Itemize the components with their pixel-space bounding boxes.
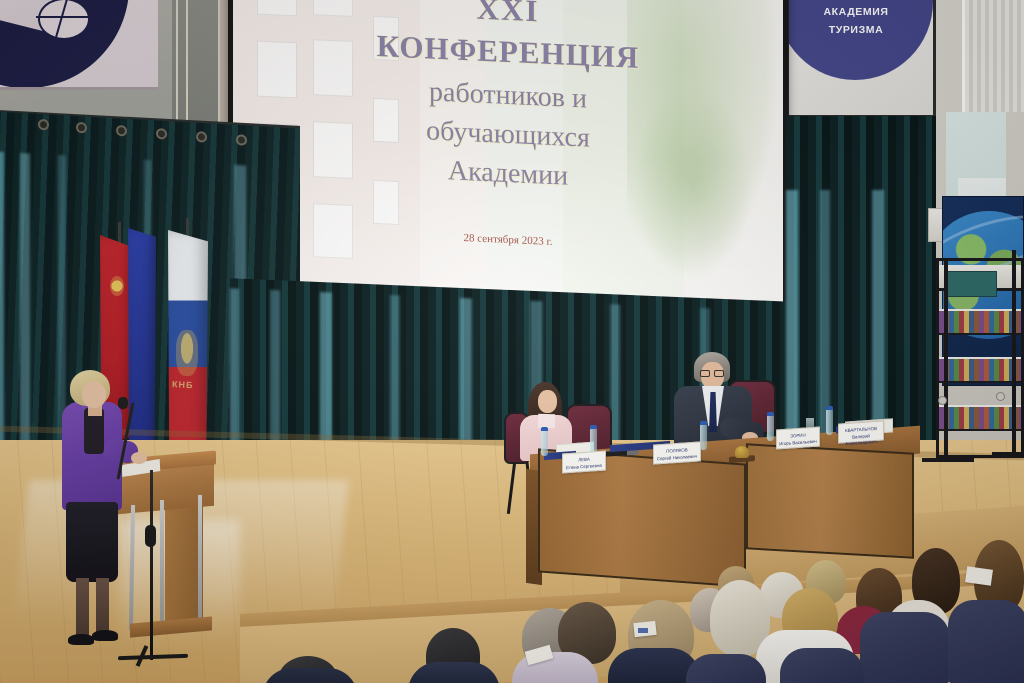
- banner-right: МЕЖДУНАРОДНАЯ АКАДЕМИЯ ТУРИЗМА: [786, 0, 936, 118]
- grommet-icon: [38, 119, 49, 131]
- books-row: [939, 359, 1021, 381]
- mat-banner-text: МЕЖДУНАРОДНАЯ АКАДЕМИЯ ТУРИЗМА: [786, 0, 933, 36]
- emblem-equator-line: [36, 16, 92, 18]
- screen-surface: XXI КОНФЕРЕНЦИЯ работников и обучающихся…: [233, 0, 783, 314]
- grommet-icon: [196, 131, 207, 143]
- eyeglasses-icon: [700, 370, 710, 377]
- speaker-hand: [131, 452, 147, 464]
- name-placard: ЗОРИН Игорь Васильевич: [776, 426, 820, 449]
- name-tag: [638, 628, 648, 633]
- water-bottle: [700, 424, 707, 450]
- flag-red-emblem-icon: [110, 276, 124, 296]
- curtain-right-window-glow: [786, 190, 936, 440]
- microphone-clamp: [145, 525, 156, 547]
- grommet-icon: [156, 128, 167, 140]
- water-bottle: [541, 430, 548, 456]
- book-shelf: [939, 309, 1021, 335]
- grommet-icon: [76, 122, 87, 134]
- auditorium-seat: [780, 648, 864, 683]
- stand-pole: [1012, 250, 1016, 454]
- water-bottle: [826, 409, 833, 435]
- flag-label: КНБ: [172, 379, 204, 391]
- shelf-sign: [947, 271, 997, 297]
- speaker-leg: [96, 578, 109, 636]
- book-shelf: [939, 357, 1021, 383]
- stand-pole: [944, 258, 948, 462]
- speaker-face: [82, 382, 106, 408]
- desk-bell-icon: [735, 446, 749, 458]
- speaker-leg: [76, 578, 89, 640]
- water-bottle: [767, 415, 774, 441]
- book-shelf: [939, 405, 1021, 431]
- note-paper: [965, 566, 993, 585]
- name-placard: КВАРТАЛЬНОВ Валерий Александрович: [838, 420, 884, 443]
- placard-line-2: Сергей Николаевич: [657, 453, 697, 461]
- speaker-shoe: [92, 630, 118, 641]
- speaker-skirt: [66, 502, 118, 582]
- book-shelf: [939, 265, 1021, 291]
- cart-wheel-icon: [996, 392, 1005, 401]
- bottle-cap: [767, 412, 774, 416]
- stand-foot: [922, 458, 974, 462]
- auditorium-seat: [860, 612, 950, 683]
- eyeglasses-icon: [714, 370, 724, 377]
- bottle-cap: [826, 406, 833, 410]
- banner-left: [0, 0, 158, 90]
- placard-line-1: ЛЕВА: [578, 457, 590, 463]
- window-blinds: [962, 0, 1024, 112]
- microphone-icon: [118, 397, 128, 409]
- stand-foot: [992, 452, 1024, 456]
- cart-wheel-icon: [938, 396, 947, 405]
- auditorium-seat: [948, 600, 1024, 683]
- bottle-cap: [590, 425, 597, 429]
- water-bottle: [590, 428, 597, 454]
- placard-line-2: Игорь Васильевич: [779, 438, 816, 446]
- books-row: [939, 311, 1021, 333]
- grommet-icon: [236, 134, 247, 146]
- slide-title-block: XXI КОНФЕРЕНЦИЯ работников и обучающихся…: [233, 0, 783, 202]
- placard-line-1: ПОЛЯКОВ: [666, 447, 687, 453]
- bottle-cap: [700, 421, 707, 425]
- name-placard: ПОЛЯКОВ Сергей Николаевич: [653, 441, 701, 464]
- microphone-stand: [150, 470, 153, 660]
- conference-hall-photo: МЕЖДУНАРОДНАЯ АКАДЕМИЯ ТУРИЗМА X: [0, 0, 1024, 683]
- bottle-cap: [541, 427, 548, 431]
- podium-leg: [160, 500, 164, 628]
- placard-line-2: Валерий Александрович: [845, 433, 876, 446]
- speaker-shoe: [68, 634, 94, 645]
- audience-shoulders: [512, 652, 598, 683]
- flag-blue: [128, 228, 156, 450]
- podium-leg: [198, 495, 202, 625]
- presidium-table-front-right: [746, 443, 914, 558]
- mat-line-2: АКАДЕМИЯ: [786, 6, 933, 18]
- presidium-member-left-face: [538, 390, 557, 413]
- flag-coat-of-arms-icon: [176, 330, 198, 376]
- book-display-stand: [936, 258, 1024, 458]
- mat-line-3: ТУРИЗМА: [786, 24, 933, 36]
- placard-line-1: ЗОРИН: [790, 432, 805, 438]
- name-placard: ЛЕВА Елена Сергеевна: [562, 450, 606, 473]
- placard-line-2: Елена Сергеевна: [566, 462, 602, 469]
- books-row: [939, 407, 1021, 429]
- grommet-icon: [116, 125, 127, 137]
- auditorium-seat: [686, 654, 766, 683]
- placard-line-1: КВАРТАЛЬНОВ: [845, 426, 877, 433]
